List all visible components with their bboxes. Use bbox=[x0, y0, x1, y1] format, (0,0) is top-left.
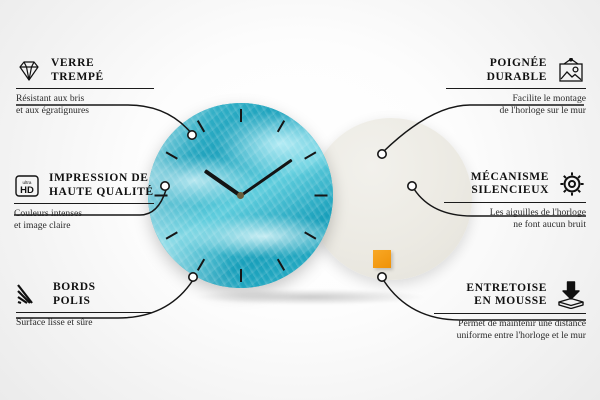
callout-title: BORDS POLIS bbox=[53, 281, 96, 308]
ultra-hd-icon: ultra HD bbox=[14, 174, 40, 198]
callout-rule bbox=[16, 312, 152, 313]
callout-rule bbox=[434, 313, 586, 314]
product-ground-shadow bbox=[150, 286, 470, 308]
callout-head: POIGNÉE DURABLE bbox=[446, 57, 586, 84]
clock-front-face bbox=[148, 103, 333, 288]
callout-desc: Permet de maintenir une distance uniform… bbox=[434, 318, 586, 341]
callout-rule bbox=[444, 202, 586, 203]
callout-title: VERRE TREMPÉ bbox=[51, 57, 104, 84]
callout-desc: Résistant aux bris et aux égratignures bbox=[16, 93, 154, 116]
callout-head: VERRE TREMPÉ bbox=[16, 57, 154, 84]
callout-rule bbox=[446, 88, 586, 89]
gear-icon bbox=[558, 170, 586, 198]
callout-rule bbox=[16, 88, 154, 89]
callout-rule bbox=[14, 203, 154, 204]
callout-title: IMPRESSION DE HAUTE QUALITÉ bbox=[49, 172, 154, 199]
ultra-hd-icon-main-text: HD bbox=[20, 185, 34, 196]
callout-title: POIGNÉE DURABLE bbox=[487, 57, 547, 84]
diamond-icon bbox=[16, 60, 42, 82]
callout-foam-spacer: ENTRETOISE EN MOUSSE Permet de maintenir… bbox=[434, 281, 586, 341]
callout-head: BORDS POLIS bbox=[16, 281, 152, 308]
orange-foam-spacer bbox=[373, 250, 391, 268]
hour-hand bbox=[203, 169, 241, 198]
callout-desc: Surface lisse et sûre bbox=[16, 317, 152, 329]
callout-tempered-glass: VERRE TREMPÉ Résistant aux bris et aux é… bbox=[16, 57, 154, 116]
callout-head: ENTRETOISE EN MOUSSE bbox=[434, 281, 586, 309]
callout-desc: Couleurs intenses et image claire bbox=[14, 208, 154, 231]
hands-center-cap bbox=[237, 192, 244, 199]
callout-desc: Facilite le montage de l'horloge sur le … bbox=[446, 93, 586, 116]
callout-desc: Les aiguilles de l'horloge ne font aucun… bbox=[444, 207, 586, 230]
minute-hand bbox=[240, 159, 293, 197]
callout-silent-mechanism: MÉCANISME SILENCIEUX Les aiguilles de l'… bbox=[444, 170, 586, 230]
polished-edges-icon bbox=[16, 284, 44, 306]
callout-head: MÉCANISME SILENCIEUX bbox=[444, 170, 586, 198]
callout-title: MÉCANISME SILENCIEUX bbox=[471, 171, 549, 198]
hanging-picture-frame-icon bbox=[556, 58, 586, 84]
callout-high-quality-print: ultra HD IMPRESSION DE HAUTE QUALITÉ Cou… bbox=[14, 172, 154, 231]
infographic-stage: VERRE TREMPÉ Résistant aux bris et aux é… bbox=[0, 0, 600, 400]
clock-hands bbox=[148, 103, 333, 288]
callout-polished-edges: BORDS POLIS Surface lisse et sûre bbox=[16, 281, 152, 329]
callout-title: ENTRETOISE EN MOUSSE bbox=[466, 282, 547, 309]
foam-stack-arrow-icon bbox=[556, 281, 586, 309]
callout-durable-handle: POIGNÉE DURABLE Facilite le montage de l… bbox=[446, 57, 586, 116]
callout-head: ultra HD IMPRESSION DE HAUTE QUALITÉ bbox=[14, 172, 154, 199]
